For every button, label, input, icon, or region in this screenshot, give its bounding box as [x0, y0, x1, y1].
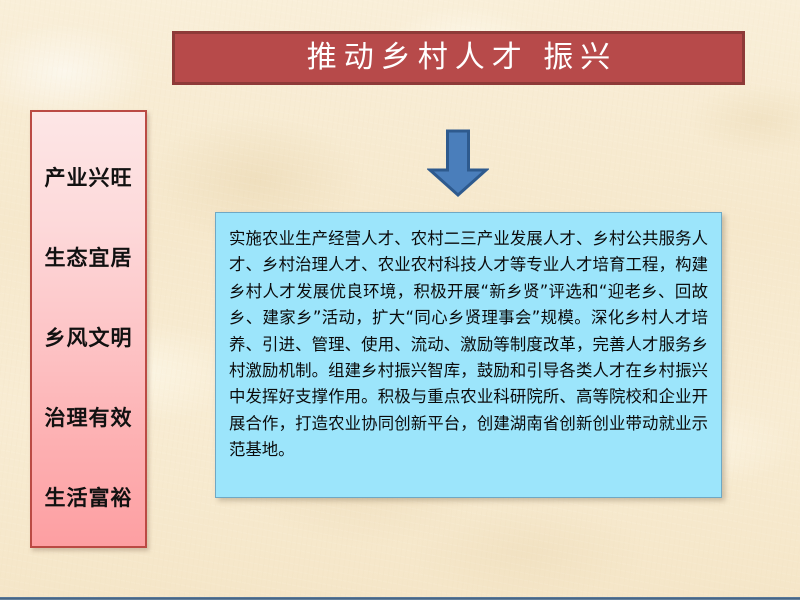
- goal-item-4: 治理有效: [32, 378, 145, 458]
- slide-title-banner: 推动乡村人才 振兴: [172, 31, 745, 85]
- goal-item-label: 生态宜居: [45, 246, 133, 270]
- arrow-down-icon: [427, 129, 489, 197]
- presentation-slide: 推动乡村人才 振兴 产业兴旺 生态宜居 乡风文明 治理有效 生活富裕 实施农业生…: [0, 0, 800, 600]
- goals-panel: 产业兴旺 生态宜居 乡风文明 治理有效 生活富裕: [30, 110, 147, 548]
- goal-item-label: 治理有效: [45, 406, 133, 430]
- goal-item-2: 生态宜居: [32, 218, 145, 298]
- goal-item-label: 产业兴旺: [45, 166, 133, 190]
- content-paragraph: 实施农业生产经营人才、农村二三产业发展人才、乡村公共服务人才、乡村治理人才、农业…: [229, 226, 708, 464]
- goal-item-3: 乡风文明: [32, 298, 145, 378]
- slide-title-text: 推动乡村人才 振兴: [300, 43, 618, 73]
- goal-item-label: 生活富裕: [45, 486, 133, 510]
- content-text-box: 实施农业生产经营人才、农村二三产业发展人才、乡村公共服务人才、乡村治理人才、农业…: [215, 212, 722, 498]
- goal-item-1: 产业兴旺: [32, 138, 145, 218]
- goal-item-label: 乡风文明: [45, 326, 133, 350]
- goal-item-5: 生活富裕: [32, 458, 145, 538]
